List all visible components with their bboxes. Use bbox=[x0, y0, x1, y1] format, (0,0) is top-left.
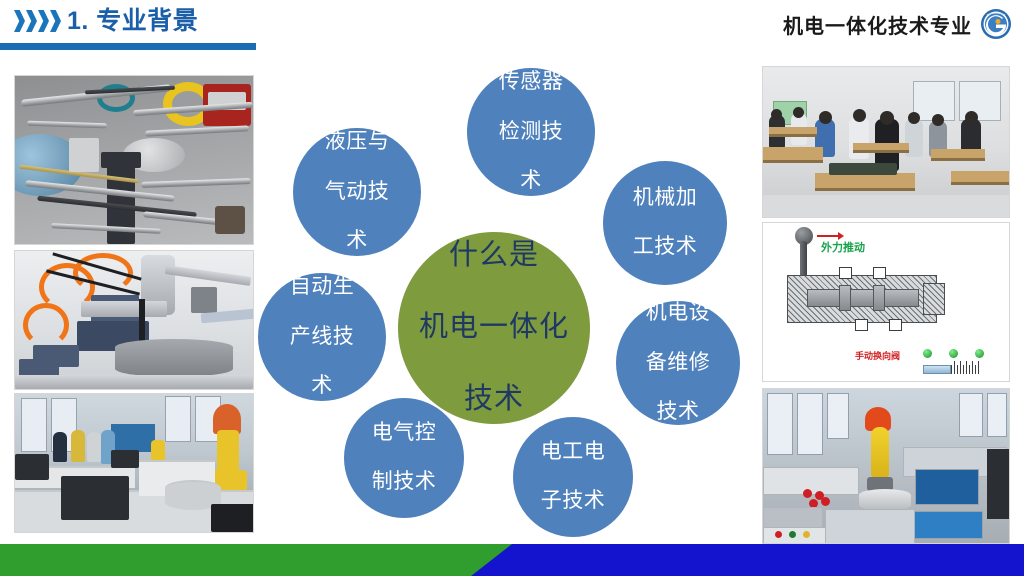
node-line3: 术 bbox=[493, 169, 570, 194]
diagram-node-equipment-maintenance[interactable]: 机电设 备维修 技术 bbox=[616, 301, 740, 425]
photo-robotics-lab bbox=[14, 393, 254, 533]
node-line3: 技术 bbox=[640, 400, 717, 425]
node-center-label: 什么是 机电一体化 技术 bbox=[407, 238, 581, 418]
indicator-led-icon bbox=[949, 349, 958, 358]
node-line2: 气动技 bbox=[319, 180, 396, 205]
chevron-right-icon bbox=[38, 10, 49, 32]
node-label: 液压与 气动技 术 bbox=[313, 130, 402, 254]
node-label: 自动生 产线技 术 bbox=[278, 275, 367, 399]
photo-content bbox=[15, 251, 253, 389]
photo-sensors-instruments bbox=[14, 75, 254, 245]
page-title: 1. 专业背景 bbox=[67, 6, 198, 36]
node-line1: 传感器 bbox=[493, 70, 570, 95]
indicator-led-icon bbox=[975, 349, 984, 358]
node-line3: 术 bbox=[319, 229, 396, 254]
photo-students-workbench bbox=[762, 66, 1010, 218]
node-line2: 工技术 bbox=[627, 235, 704, 260]
photo-automation-line-lab bbox=[762, 388, 1010, 544]
diagram-node-machining[interactable]: 机械加 工技术 bbox=[603, 161, 727, 285]
node-line2: 检测技 bbox=[493, 120, 570, 145]
photo-content bbox=[763, 67, 1009, 217]
diagram-node-electrical-electronics[interactable]: 电工电 子技术 bbox=[513, 417, 633, 537]
node-label: 传感器 检测技 术 bbox=[487, 70, 576, 194]
school-emblem-logo-icon bbox=[980, 8, 1012, 40]
node-line1: 液压与 bbox=[319, 130, 396, 155]
slide-footer bbox=[0, 544, 1024, 576]
valve-label-manual-directional-valve: 手动换向阀 bbox=[855, 349, 900, 362]
node-center-line3: 技术 bbox=[413, 382, 575, 418]
footer-green-band bbox=[0, 544, 512, 576]
node-line1: 电气控 bbox=[366, 421, 443, 446]
node-line2: 产线技 bbox=[284, 325, 361, 350]
node-line2: 备维修 bbox=[640, 351, 717, 376]
header-divider-rule bbox=[0, 43, 256, 50]
node-label: 电工电 子技术 bbox=[529, 440, 618, 514]
valve-label-external-force: 外力推动 bbox=[821, 239, 865, 255]
photo-content bbox=[763, 389, 1009, 543]
node-line1: 电工电 bbox=[535, 440, 612, 465]
department-name: 机电一体化技术专业 bbox=[783, 10, 972, 39]
node-line1: 机电设 bbox=[640, 301, 717, 326]
diagram-node-automated-production-line[interactable]: 自动生 产线技 术 bbox=[258, 273, 386, 401]
diagram-node-sensor-detection[interactable]: 传感器 检测技 术 bbox=[467, 68, 595, 196]
mechatronics-concept-diagram: 什么是 机电一体化 技术 传感器 检测技 术 液压与 气动技 术 自动生 产线技… bbox=[258, 58, 762, 536]
node-center-line2: 机电一体化 bbox=[413, 310, 575, 346]
slide-header: 1. 专业背景 机电一体化技术专业 bbox=[0, 0, 1024, 52]
node-line1: 机械加 bbox=[627, 186, 704, 211]
node-center-line1: 什么是 bbox=[413, 238, 575, 274]
photo-content bbox=[15, 394, 253, 532]
node-line2: 制技术 bbox=[366, 470, 443, 495]
chevron-right-icon bbox=[26, 10, 37, 32]
chevron-arrows-icon bbox=[14, 10, 61, 32]
node-label: 机械加 工技术 bbox=[621, 186, 710, 260]
node-label: 机电设 备维修 技术 bbox=[634, 301, 723, 425]
chevron-right-icon bbox=[50, 10, 61, 32]
diagram-node-hydraulic-pneumatic[interactable]: 液压与 气动技 术 bbox=[293, 128, 421, 256]
node-line3: 术 bbox=[284, 374, 361, 399]
node-line2: 子技术 bbox=[535, 489, 612, 514]
diagram-node-center[interactable]: 什么是 机电一体化 技术 bbox=[398, 232, 590, 424]
indicator-led-icon bbox=[923, 349, 932, 358]
chevron-right-icon bbox=[14, 10, 25, 32]
photo-pneumatic-machine bbox=[14, 250, 254, 390]
photo-hydraulic-valve-diagram: 外力推动 手动换向阀 bbox=[762, 222, 1010, 382]
node-line1: 自动生 bbox=[284, 275, 361, 300]
title-group: 1. 专业背景 bbox=[14, 6, 198, 36]
header-right-group: 机电一体化技术专业 bbox=[783, 8, 1012, 40]
node-label: 电气控 制技术 bbox=[360, 421, 449, 495]
photo-content bbox=[15, 76, 253, 244]
photo-content: 外力推动 手动换向阀 bbox=[763, 223, 1009, 381]
